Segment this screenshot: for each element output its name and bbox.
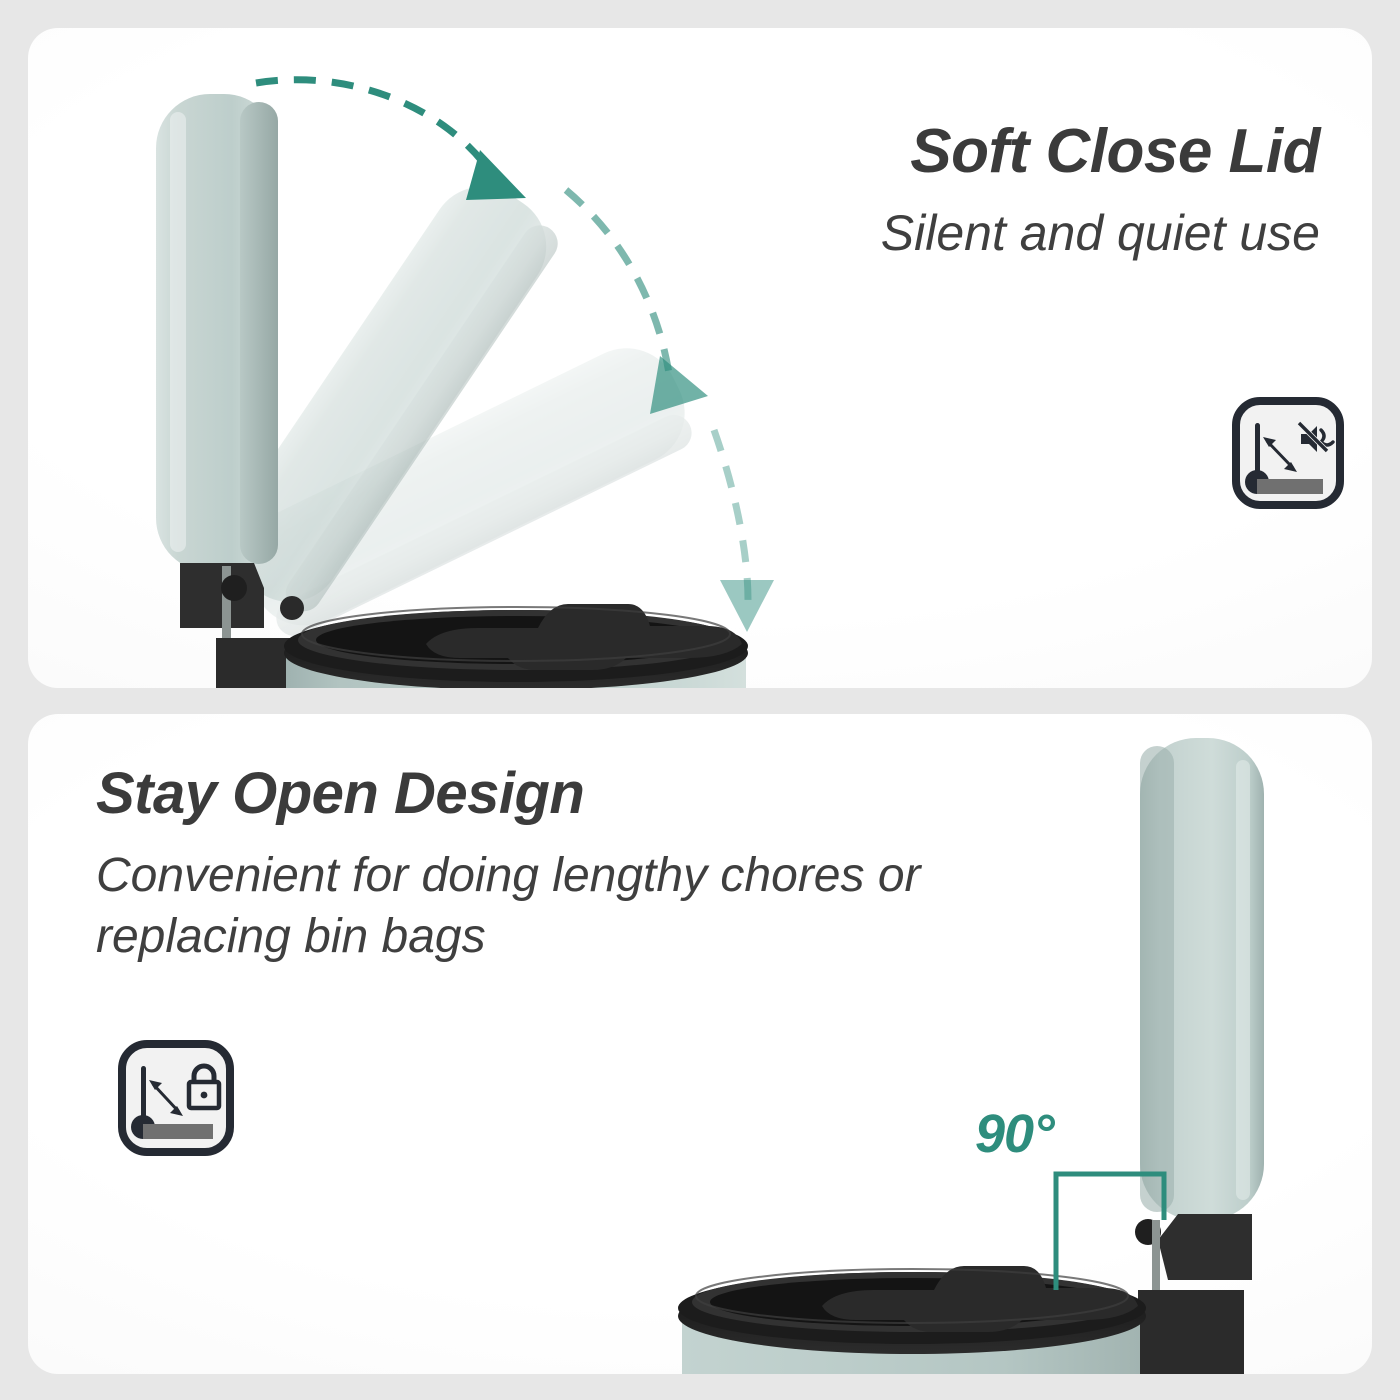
lid-open-90 [1140, 738, 1264, 1220]
base-bar [143, 1124, 213, 1139]
page-title-soft-close: Soft Close Lid [910, 116, 1320, 187]
page-title-stay-open: Stay Open Design [96, 760, 584, 827]
subtitle-soft-close: Silent and quiet use [881, 204, 1320, 262]
motion-arc-group [208, 58, 808, 638]
subtitle-stay-open: Convenient for doing lengthy chores or r… [96, 845, 956, 968]
base-bar [1257, 479, 1323, 494]
soft-close-mute-icon [1231, 396, 1345, 510]
angle-label-90: 90° [975, 1103, 1054, 1165]
soft-close-panel: Soft Close Lid Silent and quiet use [28, 28, 1372, 688]
stay-open-lock-icon [116, 1038, 236, 1158]
stay-open-panel: Stay Open Design Convenient for doing le… [28, 714, 1372, 1374]
angle-bracket-leader [1034, 1160, 1214, 1290]
